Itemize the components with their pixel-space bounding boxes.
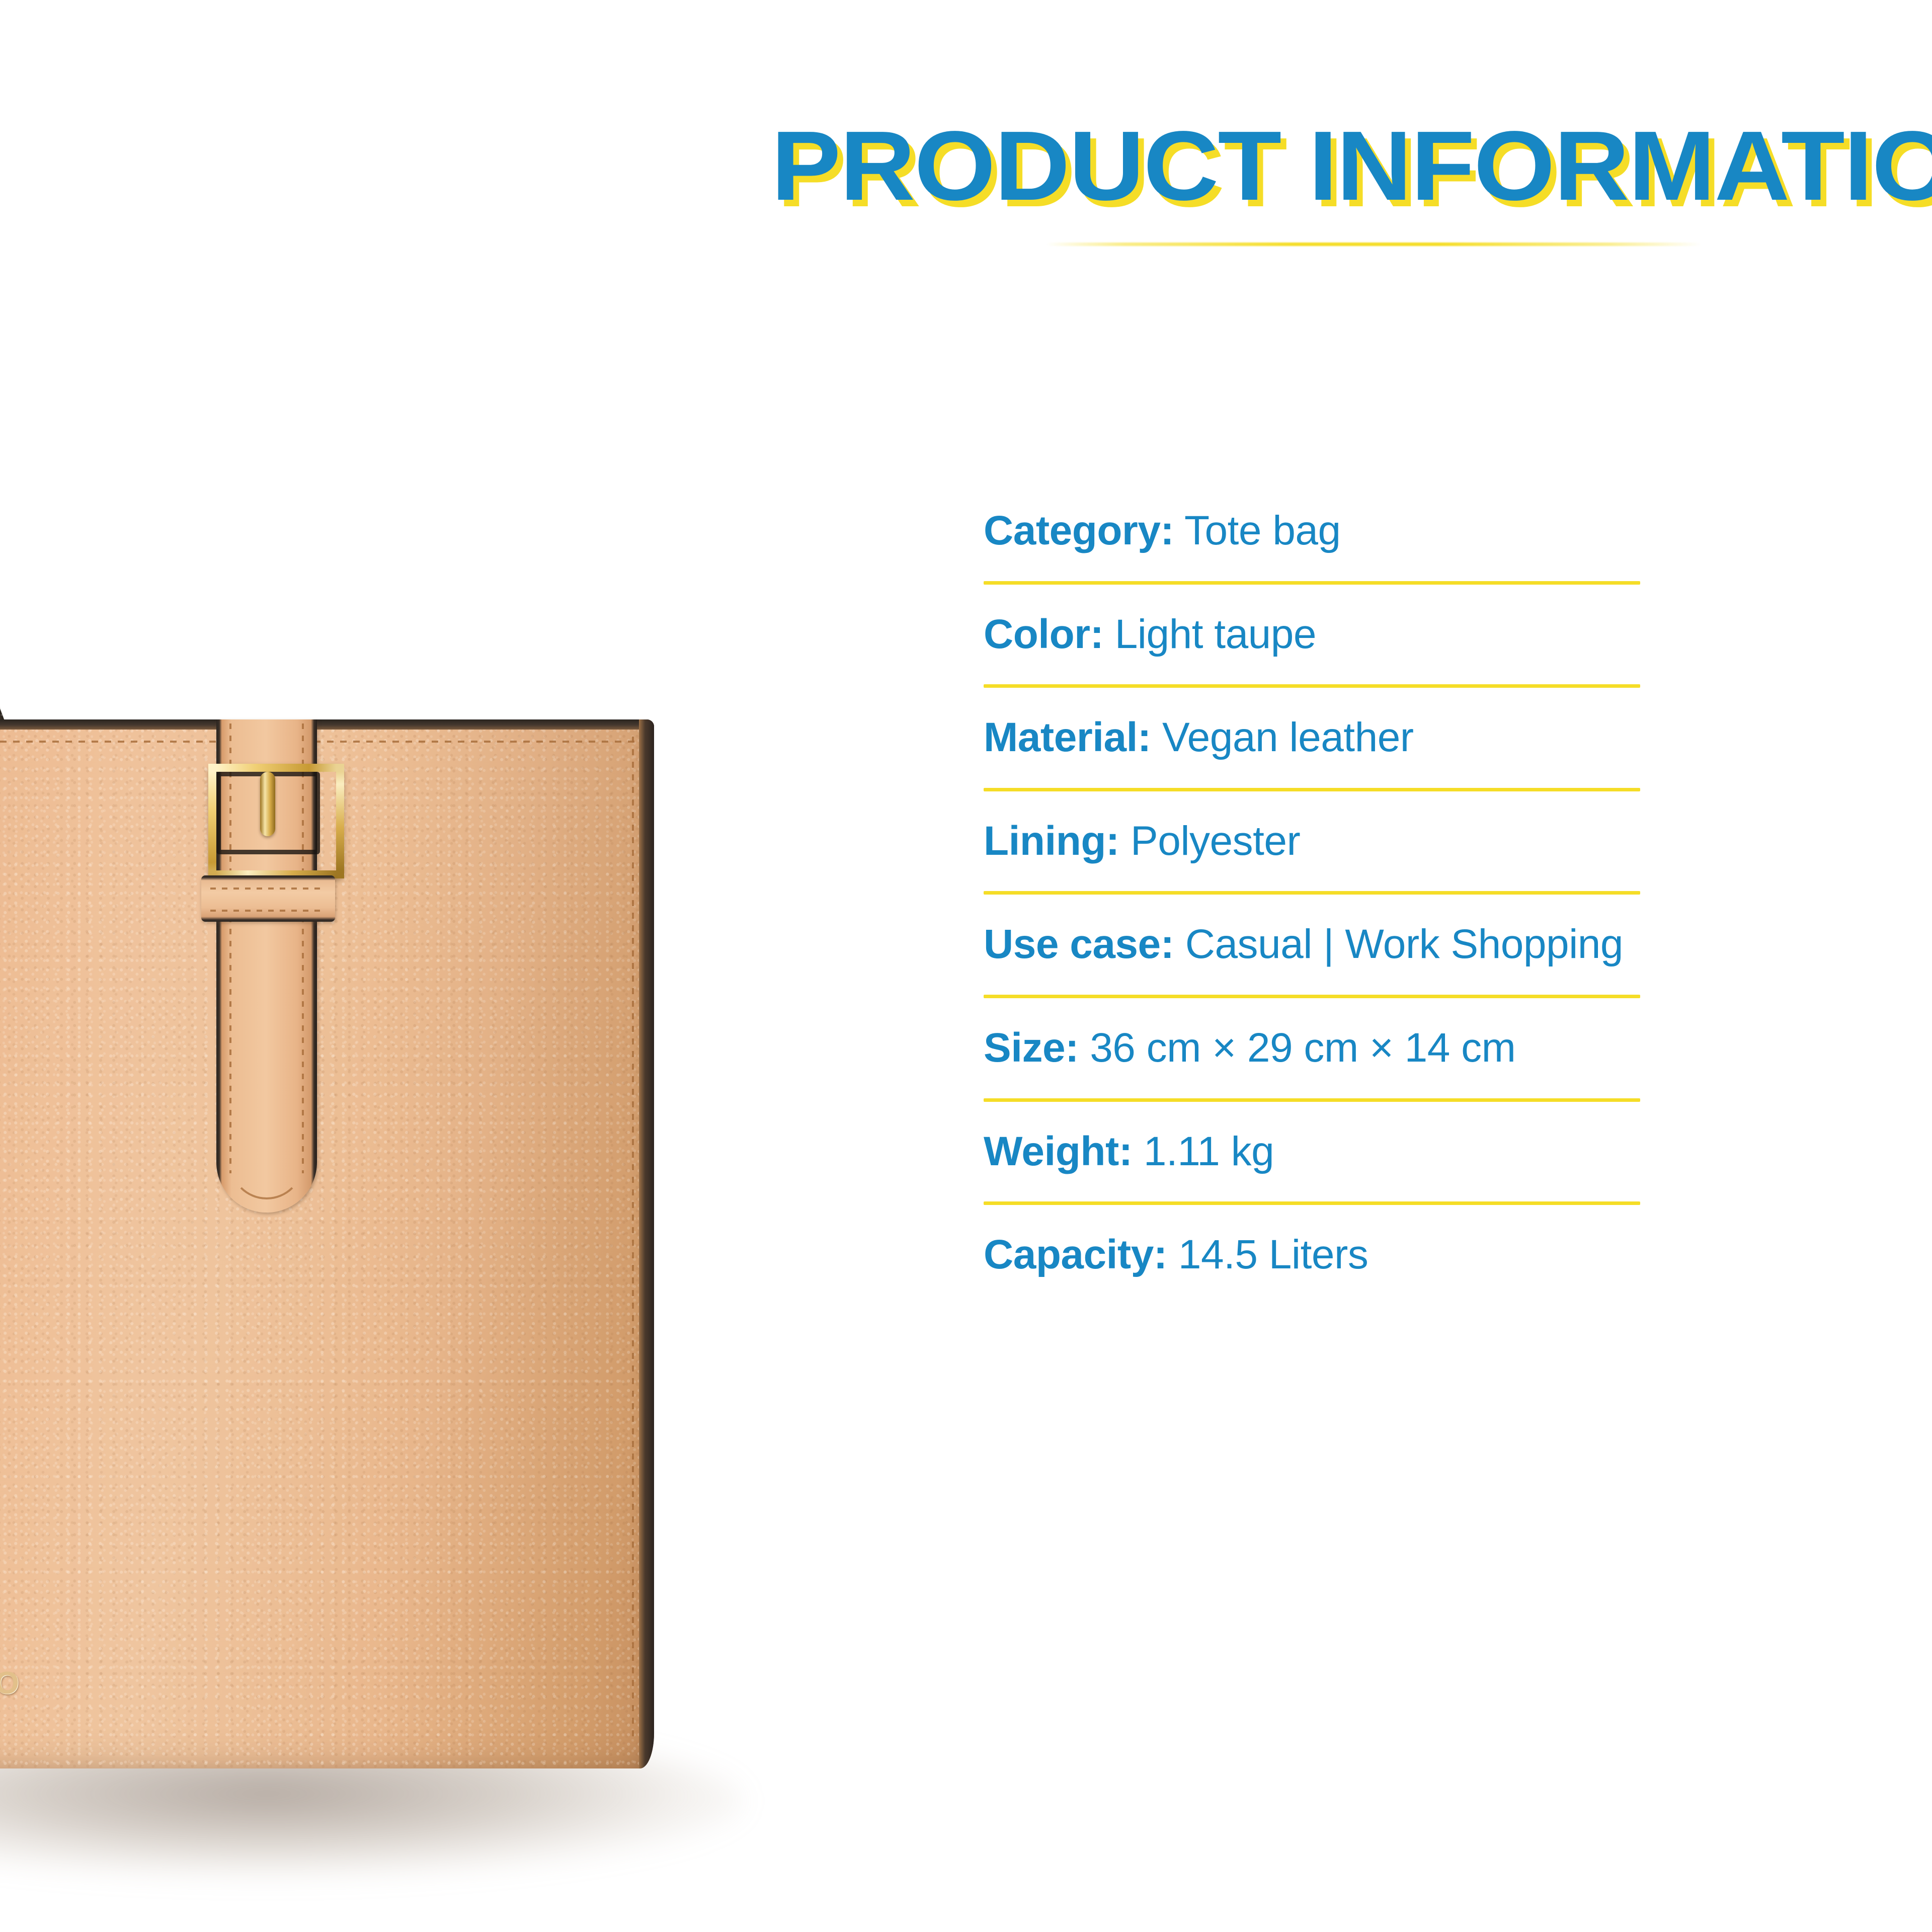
spec-row-category: Category: Tote bag	[984, 503, 1640, 607]
spec-row-size: Size: 36 cm × 29 cm × 14 cm	[984, 1020, 1640, 1124]
spec-label: Lining:	[984, 818, 1119, 864]
keeper-stitching-top	[210, 888, 326, 890]
spec-divider	[984, 1098, 1640, 1102]
strap-leather-grain	[0, 0, 33, 815]
spec-value: 14.5 Liters	[1178, 1232, 1368, 1277]
spec-divider	[984, 995, 1640, 998]
title-accent-underline	[1046, 243, 1701, 246]
spec-row-capacity: Capacity: 14.5 Liters	[984, 1227, 1640, 1304]
strap-tab-stitching-curve	[229, 1141, 304, 1199]
spec-row-weight: Weight: 1.11 kg	[984, 1124, 1640, 1228]
spec-label: Size:	[984, 1025, 1079, 1071]
spec-row-color: Color: Light taupe	[984, 607, 1640, 710]
spec-value: Vegan leather	[1162, 714, 1414, 760]
spec-text: Weight: 1.11 kg	[984, 1124, 1640, 1179]
spec-label: Use case:	[984, 921, 1174, 967]
spec-value: Tote bag	[1184, 508, 1341, 553]
buckle-prong	[260, 772, 275, 836]
spec-divider	[984, 891, 1640, 895]
bag-top-trim	[0, 719, 654, 730]
product-photo: ZO	[0, 0, 805, 1932]
spec-row-material: Material: Vegan leather	[984, 710, 1640, 814]
shoulder-strap	[0, 0, 33, 815]
spec-text: Category: Tote bag	[984, 503, 1640, 558]
spec-label: Category:	[984, 508, 1174, 553]
spec-text: Color: Light taupe	[984, 607, 1640, 662]
spec-text: Use case: Casual | Work Shopping	[984, 917, 1640, 972]
spec-row-lining: Lining: Polyester	[984, 814, 1640, 917]
spec-text: Material: Vegan leather	[984, 710, 1640, 765]
spec-divider	[984, 581, 1640, 585]
spec-value: Light taupe	[1115, 611, 1316, 657]
spec-text: Capacity: 14.5 Liters	[984, 1227, 1640, 1282]
spec-divider	[984, 788, 1640, 791]
spec-text: Size: 36 cm × 29 cm × 14 cm	[984, 1020, 1640, 1075]
spec-divider	[984, 1201, 1640, 1205]
spec-divider	[984, 684, 1640, 688]
bag-right-stitching	[632, 737, 634, 1738]
spec-text: Lining: Polyester	[984, 814, 1640, 868]
spec-list: Category: Tote bag Color: Light taupe Ma…	[984, 503, 1640, 1304]
spec-label: Weight:	[984, 1129, 1133, 1174]
strap-keeper-loop	[201, 875, 335, 922]
spec-value: 36 cm × 29 cm × 14 cm	[1090, 1025, 1515, 1071]
spec-label: Color:	[984, 611, 1103, 657]
brand-logo: ZO	[0, 1665, 24, 1701]
product-information-panel: PRODUCT INFORMATION Category: Tote bag C…	[805, 0, 1932, 1932]
page-title: PRODUCT INFORMATION	[771, 117, 1932, 215]
spec-label: Capacity:	[984, 1232, 1167, 1277]
bag-right-gusset	[639, 719, 654, 1768]
spec-value: Casual | Work Shopping	[1185, 921, 1623, 967]
spec-label: Material:	[984, 714, 1151, 760]
spec-row-use-case: Use case: Casual | Work Shopping	[984, 917, 1640, 1020]
spec-value: 1.11 kg	[1144, 1129, 1274, 1174]
spec-value: Polyester	[1131, 818, 1300, 864]
keeper-stitching-bottom	[210, 910, 326, 912]
bag-top-stitching	[0, 741, 641, 743]
